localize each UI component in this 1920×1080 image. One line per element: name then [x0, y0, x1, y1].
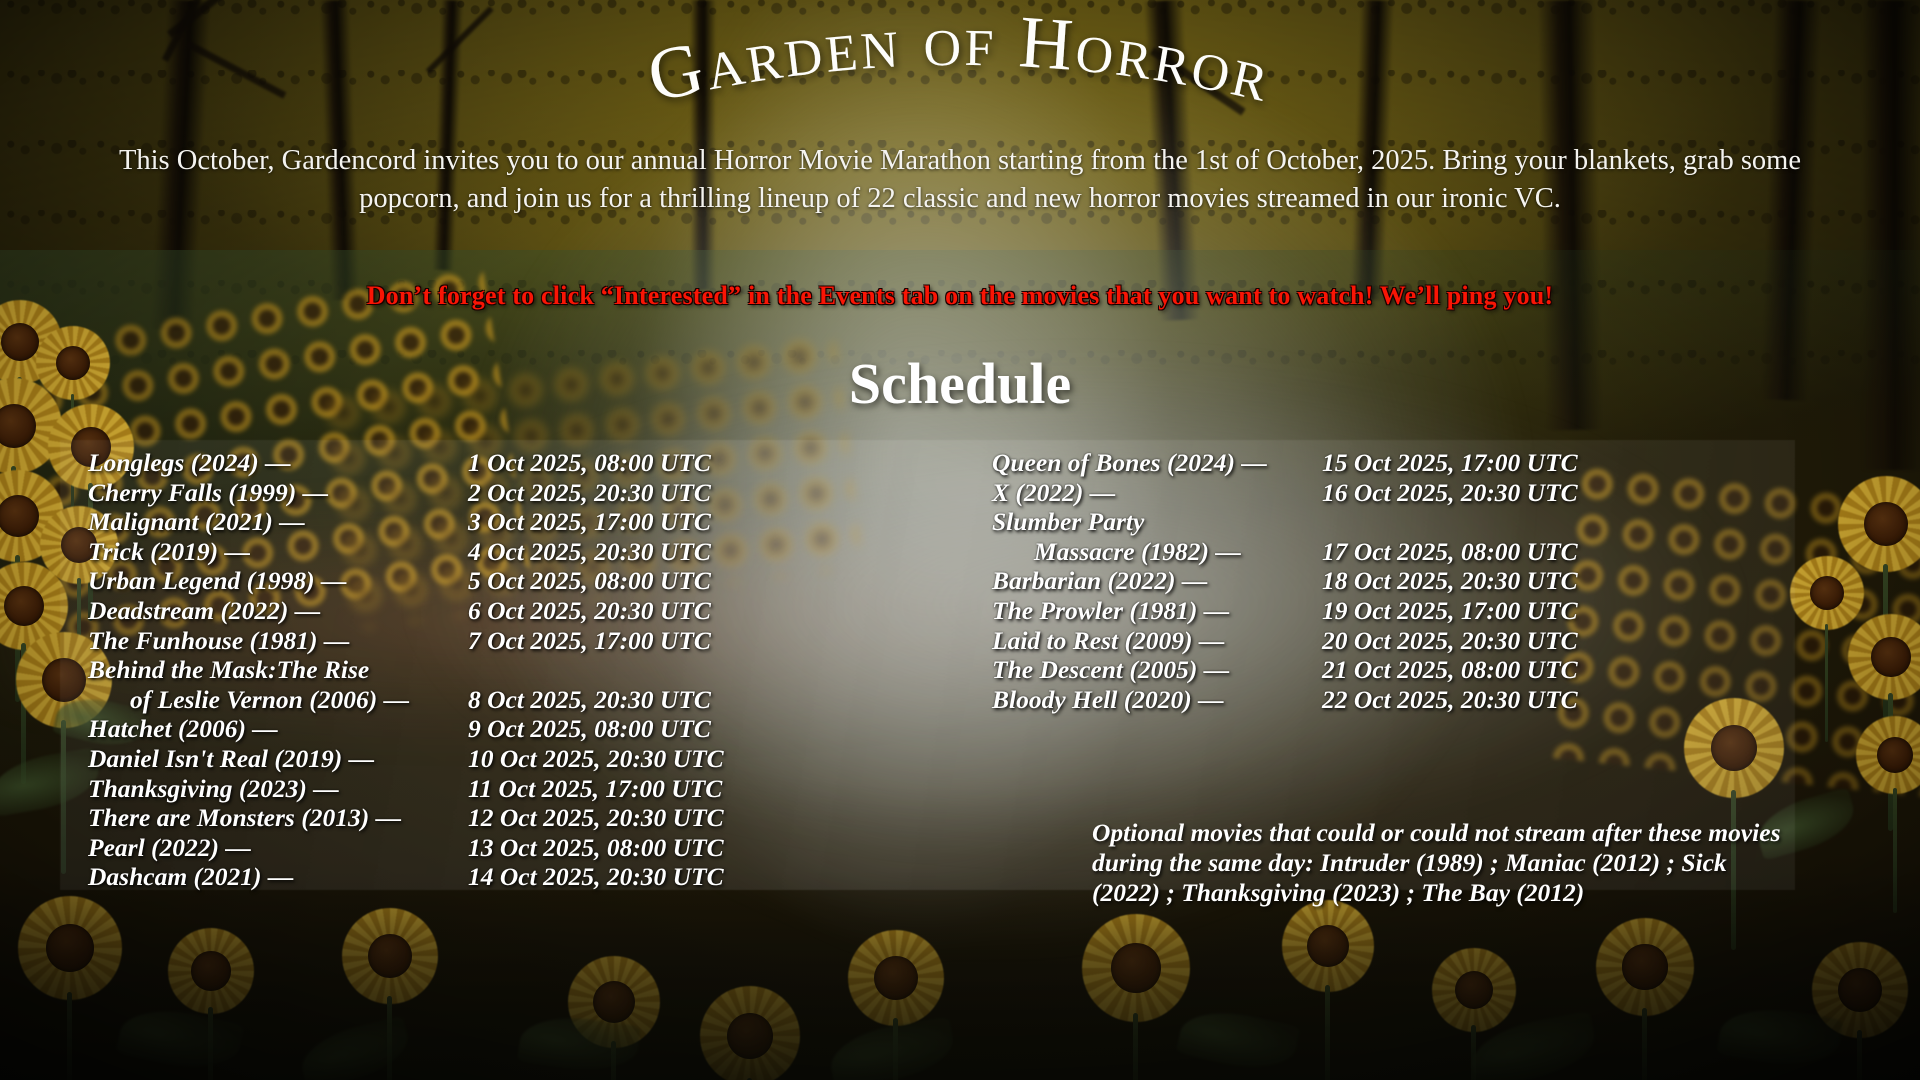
schedule-datetime: 11 Oct 2025, 17:00 UTC	[468, 774, 788, 804]
schedule-movie-title: X (2022) —	[992, 478, 1322, 508]
schedule-datetime: 21 Oct 2025, 08:00 UTC	[1322, 655, 1652, 685]
schedule-row: Barbarian (2022) —18 Oct 2025, 20:30 UTC	[992, 566, 1900, 596]
schedule-row: Pearl (2022) —13 Oct 2025, 08:00 UTC	[88, 833, 900, 863]
schedule-row: The Descent (2005) —21 Oct 2025, 08:00 U…	[992, 655, 1900, 685]
schedule-movie-title: Laid to Rest (2009) —	[992, 626, 1322, 656]
schedule-list-left: Longlegs (2024) —1 Oct 2025, 08:00 UTCCh…	[88, 448, 900, 892]
schedule-datetime: 8 Oct 2025, 20:30 UTC	[468, 685, 788, 715]
schedule-row: Laid to Rest (2009) —20 Oct 2025, 20:30 …	[992, 626, 1900, 656]
schedule-row: Queen of Bones (2024) —15 Oct 2025, 17:0…	[992, 448, 1900, 478]
schedule-row: There are Monsters (2013) —12 Oct 2025, …	[88, 803, 900, 833]
schedule-datetime: 9 Oct 2025, 08:00 UTC	[468, 714, 788, 744]
schedule-movie-title: Urban Legend (1998) —	[88, 566, 468, 596]
schedule-datetime: 5 Oct 2025, 08:00 UTC	[468, 566, 788, 596]
schedule-heading: Schedule	[0, 350, 1920, 417]
schedule-row: X (2022) —16 Oct 2025, 20:30 UTC	[992, 478, 1900, 508]
schedule-datetime: 3 Oct 2025, 17:00 UTC	[468, 507, 788, 537]
intro-paragraph: This October, Gardencord invites you to …	[70, 142, 1850, 217]
schedule-movie-title: Deadstream (2022) —	[88, 596, 468, 626]
schedule-movie-title: Behind the Mask:The Rise	[88, 655, 369, 685]
schedule-datetime: 16 Oct 2025, 20:30 UTC	[1322, 478, 1652, 508]
horror-movie-marathon-poster: Garden of Horror This October, Gardencor…	[0, 0, 1920, 1080]
schedule-movie-title: There are Monsters (2013) —	[88, 803, 468, 833]
schedule-row: Trick (2019) —4 Oct 2025, 20:30 UTC	[88, 537, 900, 567]
schedule-datetime: 1 Oct 2025, 08:00 UTC	[468, 448, 788, 478]
poster-title: Garden of Horror	[0, 0, 1920, 150]
interested-reminder: Don’t forget to click “Interested” in th…	[0, 281, 1920, 311]
schedule-movie-title: Bloody Hell (2020) —	[992, 685, 1322, 715]
schedule-datetime: 22 Oct 2025, 20:30 UTC	[1322, 685, 1652, 715]
schedule-movie-title: Thanksgiving (2023) —	[88, 774, 468, 804]
schedule-row: Longlegs (2024) —1 Oct 2025, 08:00 UTC	[88, 448, 900, 478]
schedule-movie-title: Pearl (2022) —	[88, 833, 468, 863]
schedule-row: Daniel Isn't Real (2019) —10 Oct 2025, 2…	[88, 744, 900, 774]
schedule-movie-title: of Leslie Vernon (2006) —	[88, 685, 468, 715]
schedule-list-right: Queen of Bones (2024) —15 Oct 2025, 17:0…	[992, 448, 1900, 714]
schedule-datetime: 15 Oct 2025, 17:00 UTC	[1322, 448, 1652, 478]
schedule-datetime: 2 Oct 2025, 20:30 UTC	[468, 478, 788, 508]
schedule-movie-title: Cherry Falls (1999) —	[88, 478, 468, 508]
schedule-row: Urban Legend (1998) —5 Oct 2025, 08:00 U…	[88, 566, 900, 596]
schedule-movie-title: Slumber Party	[992, 507, 1144, 537]
schedule-movie-title: Queen of Bones (2024) —	[992, 448, 1322, 478]
svg-text:Garden of Horror: Garden of Horror	[641, 0, 1280, 118]
schedule-datetime: 7 Oct 2025, 17:00 UTC	[468, 626, 788, 656]
schedule-movie-title: The Prowler (1981) —	[992, 596, 1322, 626]
schedule-datetime: 18 Oct 2025, 20:30 UTC	[1322, 566, 1652, 596]
schedule-column-left: Longlegs (2024) —1 Oct 2025, 08:00 UTCCh…	[0, 448, 900, 892]
schedule-row: The Prowler (1981) —19 Oct 2025, 17:00 U…	[992, 596, 1900, 626]
schedule-row: Behind the Mask:The Rise	[88, 655, 900, 685]
schedule-row: Bloody Hell (2020) —22 Oct 2025, 20:30 U…	[992, 685, 1900, 715]
schedule-row: Malignant (2021) —3 Oct 2025, 17:00 UTC	[88, 507, 900, 537]
schedule-row: Dashcam (2021) —14 Oct 2025, 20:30 UTC	[88, 862, 900, 892]
schedule-movie-title: Trick (2019) —	[88, 537, 468, 567]
schedule-datetime: 14 Oct 2025, 20:30 UTC	[468, 862, 788, 892]
schedule-movie-title: Hatchet (2006) —	[88, 714, 468, 744]
schedule-datetime: 4 Oct 2025, 20:30 UTC	[468, 537, 788, 567]
schedule-movie-title: Daniel Isn't Real (2019) —	[88, 744, 468, 774]
schedule-row: Slumber Party	[992, 507, 1900, 537]
schedule-datetime: 6 Oct 2025, 20:30 UTC	[468, 596, 788, 626]
schedule-movie-title: Longlegs (2024) —	[88, 448, 468, 478]
schedule-movie-title: The Descent (2005) —	[992, 655, 1322, 685]
schedule-movie-title: Barbarian (2022) —	[992, 566, 1322, 596]
schedule-row: Thanksgiving (2023) —11 Oct 2025, 17:00 …	[88, 774, 900, 804]
schedule-datetime: 12 Oct 2025, 20:30 UTC	[468, 803, 788, 833]
optional-movies-note: Optional movies that could or could not …	[1092, 818, 1782, 908]
schedule-row: Deadstream (2022) —6 Oct 2025, 20:30 UTC	[88, 596, 900, 626]
schedule-movie-title: Dashcam (2021) —	[88, 862, 468, 892]
schedule-row: The Funhouse (1981) —7 Oct 2025, 17:00 U…	[88, 626, 900, 656]
poster-title-text: Garden of Horror	[641, 0, 1280, 118]
schedule-datetime: 20 Oct 2025, 20:30 UTC	[1322, 626, 1652, 656]
schedule-movie-title: Malignant (2021) —	[88, 507, 468, 537]
schedule-row: of Leslie Vernon (2006) —8 Oct 2025, 20:…	[88, 685, 900, 715]
schedule-datetime: 19 Oct 2025, 17:00 UTC	[1322, 596, 1652, 626]
schedule-movie-title: The Funhouse (1981) —	[88, 626, 468, 656]
schedule-datetime: 10 Oct 2025, 20:30 UTC	[468, 744, 788, 774]
schedule-movie-title: Massacre (1982) —	[992, 537, 1322, 567]
schedule-row: Massacre (1982) —17 Oct 2025, 08:00 UTC	[992, 537, 1900, 567]
schedule-row: Hatchet (2006) —9 Oct 2025, 08:00 UTC	[88, 714, 900, 744]
schedule-datetime: 13 Oct 2025, 08:00 UTC	[468, 833, 788, 863]
schedule-datetime: 17 Oct 2025, 08:00 UTC	[1322, 537, 1652, 567]
schedule-row: Cherry Falls (1999) —2 Oct 2025, 20:30 U…	[88, 478, 900, 508]
